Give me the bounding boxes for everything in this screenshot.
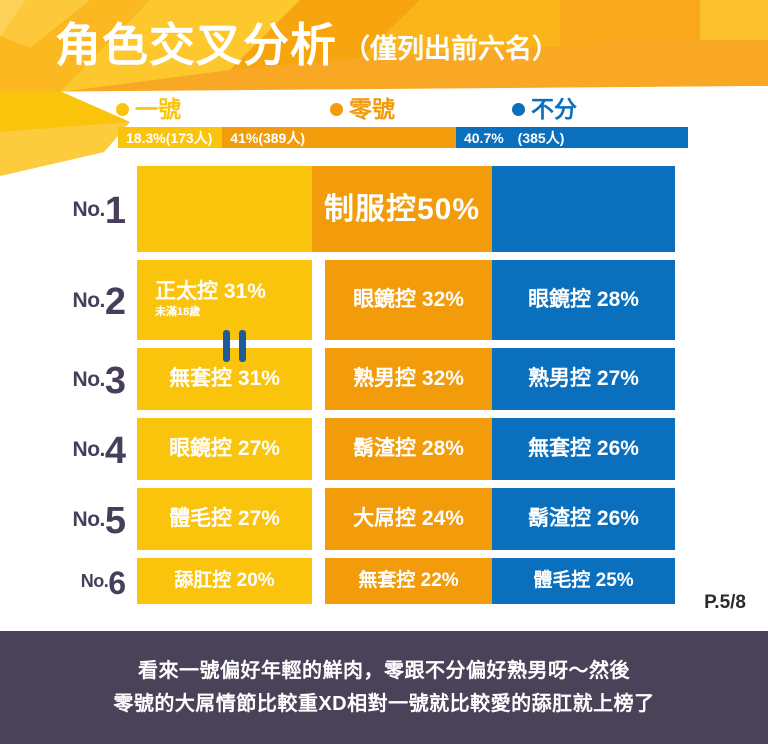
bar-cell-label-yihao-5: 體毛控 27% — [169, 507, 280, 530]
bar-cell-label-yihao-2: 正太控 31% — [137, 280, 266, 303]
bar-cell-label-yihao-3: 無套控 31% — [169, 367, 280, 390]
bar-cell-label-linghao-2: 眼鏡控 32% — [353, 288, 464, 311]
table-row: No.2 正太控 31% 未滿18歲 眼鏡控 32% 眼鏡控 28% — [0, 260, 768, 340]
column-gap — [312, 260, 325, 340]
bar-cell-linghao-1[interactable]: 制服控50% — [312, 166, 492, 252]
summary-segment-bufen: 40.7% (385人) — [456, 127, 688, 148]
bar-cell-sublabel-yihao-2: 未滿18歲 — [137, 306, 200, 319]
table-row: No.1 制服控50% — [0, 166, 768, 252]
bar-cell-label-linghao-6: 無套控 22% — [358, 571, 458, 592]
bar-cell-linghao-5[interactable]: 大屌控 24% — [325, 488, 492, 550]
bar-cell-label-linghao-5: 大屌控 24% — [353, 507, 464, 530]
bar-cell-label-linghao-3: 熟男控 32% — [353, 367, 464, 390]
row-cells-1: 制服控50% — [137, 166, 768, 252]
legend: 一號 零號 不分 — [112, 98, 688, 128]
rank-prefix-2: No. — [73, 290, 105, 311]
table-row: No.6 舔肛控 20% 無套控 22% 體毛控 25% — [0, 558, 768, 604]
column-gap — [312, 488, 325, 550]
bar-cell-label-1: 制服控50% — [324, 193, 480, 226]
equals-marker-bar-right — [239, 330, 246, 362]
rank-prefix-4: No. — [73, 439, 105, 460]
legend-label-yihao: 一號 — [135, 98, 181, 121]
rank-label-1: No.1 — [0, 166, 137, 252]
rank-label-6: No.6 — [0, 558, 137, 604]
bar-cell-bufen-3[interactable]: 熟男控 27% — [492, 348, 675, 410]
rank-prefix-6: No. — [81, 572, 109, 590]
rank-number-3: 3 — [105, 362, 125, 400]
infographic-page: 角色交叉分析 （僅列出前六名） 一號 零號 不分 18.3%(173人) 41%… — [0, 0, 768, 744]
rank-label-2: No.2 — [0, 260, 137, 340]
legend-label-linghao: 零號 — [349, 98, 395, 121]
bar-cell-bufen-2[interactable]: 眼鏡控 28% — [492, 260, 675, 340]
bar-cell-label-bufen-3: 熟男控 27% — [528, 367, 639, 390]
row-cells-6: 舔肛控 20% 無套控 22% 體毛控 25% — [137, 558, 768, 604]
bar-cell-yihao-5[interactable]: 體毛控 27% — [137, 488, 312, 550]
bar-cell-bufen-6[interactable]: 體毛控 25% — [492, 558, 675, 604]
legend-item-bufen[interactable]: 不分 — [512, 98, 577, 121]
rank-label-4: No.4 — [0, 418, 137, 480]
rank-number-2: 2 — [105, 283, 125, 321]
footer-commentary: 看來一號偏好年輕的鮮肉，零跟不分偏好熟男呀～然後 零號的大屌情節比較重XD相對一… — [0, 631, 768, 744]
bar-cell-yihao-4[interactable]: 眼鏡控 27% — [137, 418, 312, 480]
ranking-chart: No.1 制服控50% No.2 正太控 31% 未滿18歲 — [0, 166, 768, 612]
page-number: P.5/8 — [704, 592, 746, 614]
legend-dot-blue-icon — [512, 103, 525, 116]
title-main-text: 角色交叉分析 — [55, 22, 337, 68]
summary-segment-yihao-label: 18.3%(173人) — [126, 128, 212, 148]
bar-cell-linghao-3[interactable]: 熟男控 32% — [325, 348, 492, 410]
title-sub-text: （僅列出前六名） — [343, 36, 559, 63]
bar-cell-label-yihao-6: 舔肛控 20% — [174, 571, 274, 592]
row-cells-4: 眼鏡控 27% 鬍渣控 28% 無套控 26% — [137, 418, 768, 480]
rank-label-3: No.3 — [0, 348, 137, 410]
table-row: No.5 體毛控 27% 大屌控 24% 鬍渣控 26% — [0, 488, 768, 550]
summary-proportion-bar: 18.3%(173人) 41%(389人) 40.7% (385人) — [118, 127, 688, 148]
bar-cell-bufen-5[interactable]: 鬍渣控 26% — [492, 488, 675, 550]
legend-dot-orange-icon — [330, 103, 343, 116]
legend-item-linghao[interactable]: 零號 — [330, 98, 395, 121]
bar-cell-yihao-6[interactable]: 舔肛控 20% — [137, 558, 312, 604]
column-gap — [312, 418, 325, 480]
column-gap — [312, 348, 325, 410]
rank-number-1: 1 — [105, 192, 125, 230]
bar-cell-label-bufen-5: 鬍渣控 26% — [528, 507, 639, 530]
legend-dot-yellow-icon — [116, 103, 129, 116]
bar-cell-linghao-6[interactable]: 無套控 22% — [325, 558, 492, 604]
legend-label-bufen: 不分 — [531, 98, 577, 121]
page-title: 角色交叉分析 （僅列出前六名） — [55, 22, 559, 68]
table-row: No.4 眼鏡控 27% 鬍渣控 28% 無套控 26% — [0, 418, 768, 480]
rank-number-5: 5 — [105, 502, 125, 540]
rank-prefix-5: No. — [73, 509, 105, 530]
bar-cell-yihao-2[interactable]: 正太控 31% 未滿18歲 — [137, 260, 312, 340]
rank-prefix-1: No. — [73, 199, 105, 220]
rank-number-6: 6 — [108, 567, 125, 599]
header-band: 角色交叉分析 （僅列出前六名） — [0, 0, 768, 180]
bar-cell-label-bufen-4: 無套控 26% — [528, 437, 639, 460]
rank-number-4: 4 — [105, 432, 125, 470]
summary-segment-bufen-label: 40.7% (385人) — [464, 128, 564, 148]
bar-cell-label-bufen-2: 眼鏡控 28% — [528, 288, 639, 311]
summary-segment-linghao: 41%(389人) — [222, 127, 456, 148]
summary-segment-linghao-label: 41%(389人) — [230, 128, 305, 148]
summary-segment-yihao: 18.3%(173人) — [118, 127, 222, 148]
table-row: No.3 無套控 31% 熟男控 32% 熟男控 27% — [0, 348, 768, 410]
row-cells-5: 體毛控 27% 大屌控 24% 鬍渣控 26% — [137, 488, 768, 550]
bar-cell-label-yihao-4: 眼鏡控 27% — [169, 437, 280, 460]
bar-cell-label-bufen-6: 體毛控 25% — [533, 571, 633, 592]
rank-prefix-3: No. — [73, 369, 105, 390]
bar-cell-bufen-1[interactable] — [492, 166, 675, 252]
bar-cell-bufen-4[interactable]: 無套控 26% — [492, 418, 675, 480]
bar-cell-label-linghao-4: 鬍渣控 28% — [353, 437, 464, 460]
equals-marker-bar-left — [223, 330, 230, 362]
bar-cell-yihao-1[interactable] — [137, 166, 312, 252]
bar-cell-linghao-2[interactable]: 眼鏡控 32% — [325, 260, 492, 340]
legend-item-yihao[interactable]: 一號 — [116, 98, 181, 121]
bar-cell-linghao-4[interactable]: 鬍渣控 28% — [325, 418, 492, 480]
row-cells-2: 正太控 31% 未滿18歲 眼鏡控 32% 眼鏡控 28% — [137, 260, 768, 340]
rank-label-5: No.5 — [0, 488, 137, 550]
footer-line-1: 看來一號偏好年輕的鮮肉，零跟不分偏好熟男呀～然後 — [138, 658, 630, 685]
footer-line-2: 零號的大屌情節比較重XD相對一號就比較愛的舔肛就上榜了 — [113, 691, 654, 718]
equals-marker-icon — [216, 330, 252, 362]
column-gap — [312, 558, 325, 604]
